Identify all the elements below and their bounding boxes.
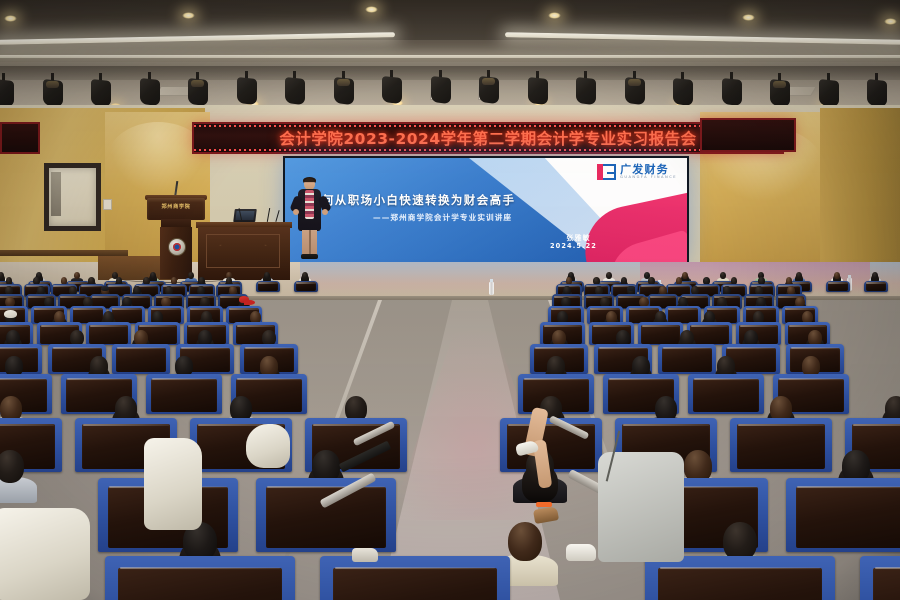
stage-spotlight-icon [867, 73, 887, 107]
stage-spotlight-icon [91, 73, 111, 107]
laptop-icon [232, 209, 258, 224]
draped-jacket [0, 508, 90, 600]
spotlight-body [0, 79, 14, 107]
seat-highlight [707, 308, 737, 310]
right-gold-wall [820, 108, 900, 284]
audience-head [606, 272, 612, 279]
auditorium-seat[interactable] [658, 344, 716, 374]
presentation-slide: 广发财务 GUANGFA FINANCE 如何从职场小白快速转换为财会高手 ——… [285, 158, 687, 262]
seat-back-panel [151, 379, 216, 412]
seat-back-panel [641, 325, 680, 344]
stage-spotlight-icon [479, 70, 499, 104]
presenter-hand-left [293, 209, 299, 215]
seat-back-panel [662, 348, 712, 373]
seat-highlight [83, 424, 169, 426]
spotlight-body [237, 77, 257, 105]
ceiling-downlight-icon [4, 15, 17, 22]
seat-back-panel [668, 308, 699, 323]
spotlight-body [528, 77, 548, 105]
presenter-scarf [305, 190, 314, 219]
audience-head [188, 272, 194, 279]
stage-spotlight-icon [431, 70, 451, 104]
stage-spotlight-icon [140, 72, 160, 106]
seat-highlight [650, 296, 675, 298]
seat-highlight [691, 325, 729, 327]
ceiling-downlight-icon [548, 12, 561, 19]
logo-blue-g [603, 164, 616, 180]
auditorium-seat[interactable] [146, 374, 222, 414]
slide-date: 2024.5.22 [550, 242, 597, 250]
auditorium-seat[interactable] [105, 556, 295, 600]
audience-head [0, 450, 24, 482]
auditorium-seat[interactable] [638, 322, 683, 345]
ceiling-downlight-icon [365, 6, 378, 13]
seat-highlight [785, 308, 815, 310]
seat-highlight [151, 308, 181, 310]
spotlight-lens [773, 81, 786, 88]
stage-spotlight-icon [43, 73, 63, 107]
ceiling-downlight-icon [182, 12, 195, 19]
stage-spotlight-icon [0, 73, 14, 107]
ceiling-downlight-icon [742, 14, 755, 21]
seat-highlight [120, 567, 280, 569]
led-banner-right-segment [700, 118, 796, 152]
auditorium-seat[interactable] [86, 322, 131, 345]
seat-highlight [746, 308, 776, 310]
auditorium-seat[interactable] [294, 281, 318, 292]
seat-highlight [229, 308, 259, 310]
seat-highlight [853, 424, 900, 426]
draped-jacket [144, 438, 202, 530]
seat-highlight [0, 347, 37, 349]
seat-highlight [53, 347, 102, 349]
auditorium-seat[interactable] [256, 281, 280, 292]
presenter-leg-gap [309, 230, 311, 255]
spotlight-lens [337, 79, 350, 86]
auditorium-seat[interactable] [860, 556, 900, 600]
stage-table [196, 222, 292, 280]
seat-highlight [866, 282, 886, 284]
stage-spotlight-icon [237, 71, 257, 105]
auditorium-seat[interactable] [645, 556, 835, 600]
auditorium-photo: 会计学院2023-2024学年第二学期会计学专业实习报告会 广发财务 GUANG… [0, 0, 900, 600]
auditorium-seat[interactable] [688, 374, 764, 414]
stage-spotlight-icon [334, 71, 354, 105]
seat-highlight [258, 282, 278, 284]
seat-back-panel [118, 568, 281, 600]
seat-back-panel [89, 325, 128, 344]
stage-spotlight-icon [819, 73, 839, 107]
seat-highlight [139, 325, 177, 327]
seat-back-panel [658, 568, 821, 600]
seat-highlight [188, 325, 226, 327]
seat-highlight [593, 325, 631, 327]
seat-highlight [335, 567, 495, 569]
seat-highlight [623, 424, 709, 426]
seat-highlight [544, 325, 582, 327]
led-banner-text: 会计学院2023-2024学年第二学期会计学专业实习报告会 [279, 127, 696, 149]
spotlight-lens [191, 80, 204, 87]
audience-head [0, 272, 4, 279]
presenter-hand-right [322, 209, 328, 215]
audience-head [872, 272, 878, 279]
cove-light-strip [0, 55, 900, 58]
auditorium-seat[interactable] [826, 281, 850, 292]
seat-highlight [663, 347, 712, 349]
seat-highlight [34, 308, 64, 310]
stage-spotlight-icon [722, 72, 742, 106]
spotlight-body [431, 76, 451, 104]
seat-highlight [73, 308, 103, 310]
stage-spotlight-icon [625, 71, 645, 105]
spotlight-lens [482, 78, 495, 85]
spotlight-lens [628, 79, 641, 86]
seat-highlight [245, 347, 294, 349]
seat-back-panel [873, 568, 900, 600]
seat-highlight [828, 282, 848, 284]
seat-highlight [0, 325, 29, 327]
draped-jacket [246, 424, 290, 468]
seat-back-panel [693, 379, 758, 412]
shoe-strap [536, 502, 552, 507]
guangfa-logo-icon: 广发财务 GUANGFA FINANCE [597, 164, 677, 180]
auditorium-seat[interactable] [112, 344, 170, 374]
audience-head [834, 272, 840, 279]
seat-highlight [590, 308, 620, 310]
seat-highlight [117, 347, 166, 349]
seat-highlight [508, 424, 594, 426]
audience-head [508, 522, 543, 561]
audience-head [796, 272, 802, 279]
slide-presenter: 张雅敏 [566, 232, 591, 242]
water-bottle-icon [489, 282, 494, 295]
audience-head [302, 272, 308, 279]
stage-spotlight-icon [770, 73, 790, 107]
seat-highlight [535, 347, 584, 349]
seat-highlight [629, 308, 659, 310]
audience-head [150, 272, 156, 279]
seat-highlight [738, 424, 824, 426]
audience-head [720, 272, 726, 279]
spotlight-body [867, 79, 887, 107]
logo-mark [597, 164, 616, 180]
auditorium-seat[interactable] [730, 418, 832, 472]
stage-spotlight-icon [673, 72, 693, 106]
spotlight-body [819, 79, 839, 107]
seat-highlight [599, 347, 648, 349]
auditorium-seat[interactable] [864, 281, 888, 292]
ceiling-downlight-icon [884, 18, 897, 25]
auditorium-seat[interactable] [786, 478, 900, 552]
stage-spotlight-icon [528, 71, 548, 105]
seat-highlight [551, 308, 581, 310]
logo-chinese-text: 广发财务 [620, 164, 677, 175]
spotlight-body [140, 78, 160, 106]
seat-back-panel [112, 308, 143, 323]
stage-spotlight-icon [576, 71, 596, 105]
seat-highlight [181, 347, 230, 349]
stage-spotlight-icon [382, 70, 402, 104]
seat-highlight [60, 296, 85, 298]
audience-head [74, 272, 80, 279]
spotlight-body [91, 78, 111, 106]
logo-english-text: GUANGFA FINANCE [620, 176, 677, 180]
seat-highlight [668, 308, 698, 310]
seat-highlight [296, 282, 316, 284]
seat-highlight [740, 325, 778, 327]
seat-highlight [875, 567, 900, 569]
led-banner: 会计学院2023-2024学年第二学期会计学专业实习报告会 [192, 122, 784, 154]
seat-back-panel [333, 568, 496, 600]
side-door[interactable] [44, 163, 101, 231]
auditorium-seat[interactable] [320, 556, 510, 600]
presenter-person [293, 178, 327, 263]
seat-back-panel [796, 487, 900, 548]
seat-highlight [789, 325, 827, 327]
projection-screen: 广发财务 GUANGFA FINANCE 如何从职场小白快速转换为财会高手 ——… [285, 158, 687, 262]
logo-wordmark: 广发财务 GUANGFA FINANCE [620, 164, 677, 180]
seat-highlight [797, 486, 900, 488]
slide-title: 如何从职场小白快速转换为财会高手 [309, 192, 609, 208]
table-panel [206, 234, 280, 268]
seat-highlight [0, 424, 54, 426]
seat-back-panel [690, 325, 729, 344]
presenter-shoes [301, 254, 318, 259]
seat-highlight [237, 325, 275, 327]
spotlight-body [673, 78, 693, 106]
seat-highlight [112, 308, 142, 310]
audience-head [682, 272, 688, 279]
seat-back-panel [737, 424, 825, 468]
university-emblem-icon [168, 238, 186, 256]
laptop-screen [235, 211, 254, 220]
seat-highlight [791, 347, 840, 349]
wall-switch[interactable] [103, 199, 112, 210]
spotlight-body [382, 76, 402, 104]
seat-highlight [41, 325, 79, 327]
seat-highlight [642, 325, 680, 327]
seat-highlight [660, 567, 820, 569]
seat-back-panel [73, 308, 104, 323]
audience-shoe [352, 548, 378, 562]
audience-cap [239, 296, 249, 303]
door-pane [51, 172, 61, 216]
spotlight-body [576, 77, 596, 105]
stage-spotlight-icon [188, 72, 208, 106]
seat-highlight [727, 347, 776, 349]
spotlight-body [285, 77, 305, 105]
seat-highlight [92, 296, 117, 298]
seat-highlight [90, 325, 128, 327]
lectern-institution-text: 郑州商学院 [147, 203, 205, 210]
led-banner-left-segment [0, 122, 40, 154]
stage-spotlight-icon [285, 71, 305, 105]
audience-cap [4, 310, 17, 318]
seat-back-panel [116, 348, 166, 373]
spotlight-lens [46, 81, 59, 88]
audience-shoe [566, 544, 596, 561]
seat-highlight [267, 486, 385, 488]
slide-subtitle: ——郑州商学院会计学专业实训讲座 [373, 212, 623, 223]
seat-highlight [190, 308, 220, 310]
spotlight-body [722, 78, 742, 106]
audience-head [264, 272, 270, 279]
auditorium-seat[interactable] [256, 478, 396, 552]
ceiling-slab-lower [0, 40, 900, 62]
